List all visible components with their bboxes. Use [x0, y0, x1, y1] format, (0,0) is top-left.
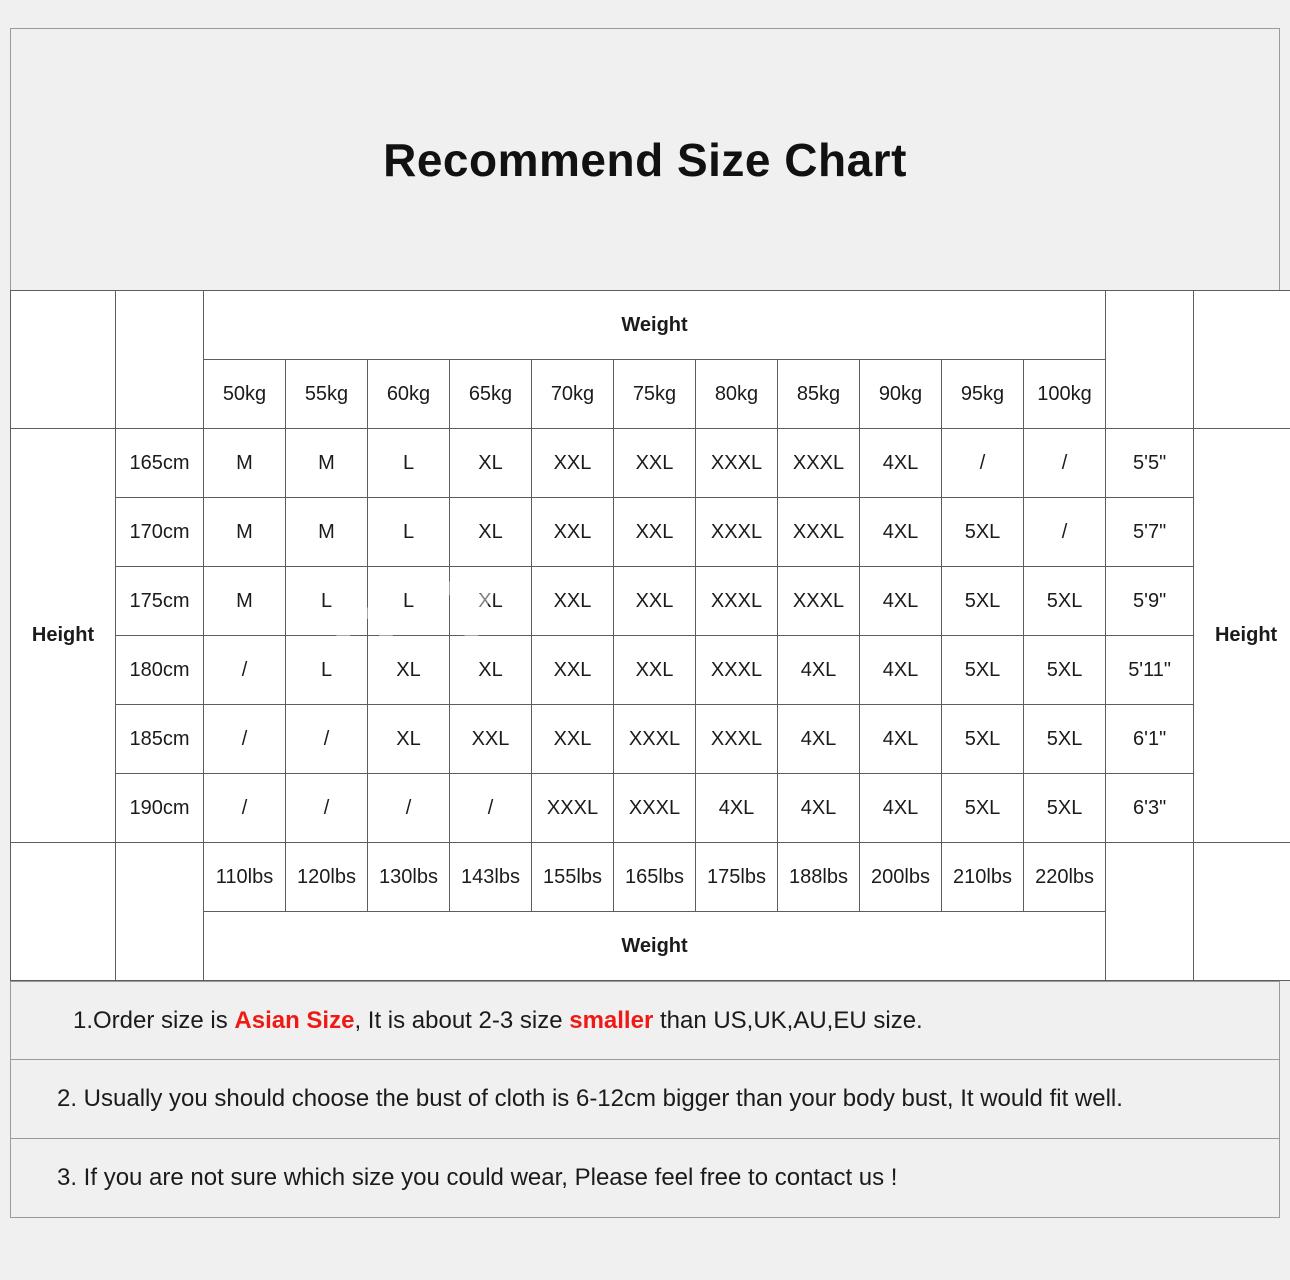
size-cell-180cm-65kg[interactable]: XL [450, 636, 532, 705]
table-row-lbs-units: 110lbs120lbs130lbs143lbs155lbs165lbs175l… [11, 843, 1290, 912]
note-1: 1.Order size is Asian Size, It is about … [10, 981, 1280, 1060]
table-row: 190cm////XXXLXXXL4XL4XL4XL5XL5XL6'3" [11, 774, 1290, 843]
note-3-text: 3. If you are not sure which size you co… [57, 1164, 897, 1192]
size-cell-185cm-100kg[interactable]: 5XL [1024, 705, 1106, 774]
weight-lbs-165lbs: 165lbs [614, 843, 696, 912]
size-cell-190cm-50kg[interactable]: / [204, 774, 286, 843]
size-cell-185cm-80kg[interactable]: XXXL [696, 705, 778, 774]
table-row: Height165cmMMLXLXXLXXLXXXLXXXL4XL//5'5"H… [11, 429, 1290, 498]
size-cell-170cm-80kg[interactable]: XXXL [696, 498, 778, 567]
height-cm-185cm: 185cm [116, 705, 204, 774]
size-cell-165cm-65kg[interactable]: XL [450, 429, 532, 498]
size-cell-165cm-95kg[interactable]: / [942, 429, 1024, 498]
weight-lbs-130lbs: 130lbs [368, 843, 450, 912]
size-cell-185cm-60kg[interactable]: XL [368, 705, 450, 774]
weight-lbs-200lbs: 200lbs [860, 843, 942, 912]
size-cell-170cm-100kg[interactable]: / [1024, 498, 1106, 567]
size-cell-170cm-60kg[interactable]: L [368, 498, 450, 567]
size-cell-180cm-85kg[interactable]: 4XL [778, 636, 860, 705]
weight-lbs-120lbs: 120lbs [286, 843, 368, 912]
size-cell-190cm-70kg[interactable]: XXXL [532, 774, 614, 843]
size-cell-170cm-95kg[interactable]: 5XL [942, 498, 1024, 567]
size-cell-185cm-90kg[interactable]: 4XL [860, 705, 942, 774]
size-cell-170cm-55kg[interactable]: M [286, 498, 368, 567]
size-cell-175cm-60kg[interactable]: L [368, 567, 450, 636]
table-row: 185cm//XLXXLXXLXXXLXXXL4XL4XL5XL5XL6'1" [11, 705, 1290, 774]
size-cell-185cm-55kg[interactable]: / [286, 705, 368, 774]
size-cell-185cm-85kg[interactable]: 4XL [778, 705, 860, 774]
corner-blank-bottomright [1106, 843, 1194, 981]
weight-kg-90kg: 90kg [860, 360, 942, 429]
weight-kg-65kg: 65kg [450, 360, 532, 429]
height-ft-5'11": 5'11" [1106, 636, 1194, 705]
table-row: 180cm/LXLXLXXLXXLXXXL4XL4XL5XL5XL5'11" [11, 636, 1290, 705]
corner-blank-bottomleft2 [116, 843, 204, 981]
height-ft-5'5": 5'5" [1106, 429, 1194, 498]
weight-kg-55kg: 55kg [286, 360, 368, 429]
page-title: Recommend Size Chart [383, 133, 907, 187]
weight-kg-60kg: 60kg [368, 360, 450, 429]
size-cell-185cm-70kg[interactable]: XXL [532, 705, 614, 774]
height-cm-190cm: 190cm [116, 774, 204, 843]
weight-lbs-188lbs: 188lbs [778, 843, 860, 912]
size-cell-170cm-70kg[interactable]: XXL [532, 498, 614, 567]
height-ft-5'9": 5'9" [1106, 567, 1194, 636]
size-cell-180cm-80kg[interactable]: XXXL [696, 636, 778, 705]
size-cell-165cm-70kg[interactable]: XXL [532, 429, 614, 498]
weight-header-top: Weight [204, 291, 1106, 360]
weight-lbs-110lbs: 110lbs [204, 843, 286, 912]
weight-lbs-143lbs: 143lbs [450, 843, 532, 912]
size-cell-185cm-50kg[interactable]: / [204, 705, 286, 774]
weight-kg-95kg: 95kg [942, 360, 1024, 429]
size-cell-170cm-85kg[interactable]: XXXL [778, 498, 860, 567]
corner-blank-topright2 [1194, 291, 1290, 429]
size-cell-175cm-50kg[interactable]: M [204, 567, 286, 636]
weight-lbs-155lbs: 155lbs [532, 843, 614, 912]
size-cell-175cm-55kg[interactable]: L [286, 567, 368, 636]
size-cell-180cm-75kg[interactable]: XXL [614, 636, 696, 705]
height-cm-165cm: 165cm [116, 429, 204, 498]
corner-blank-bottomleft [11, 843, 116, 981]
size-cell-190cm-80kg[interactable]: 4XL [696, 774, 778, 843]
size-cell-165cm-90kg[interactable]: 4XL [860, 429, 942, 498]
size-cell-170cm-75kg[interactable]: XXL [614, 498, 696, 567]
weight-lbs-210lbs: 210lbs [942, 843, 1024, 912]
height-label-right: Height [1194, 429, 1290, 843]
note-2-text: 2. Usually you should choose the bust of… [57, 1085, 1123, 1113]
size-cell-175cm-90kg[interactable]: 4XL [860, 567, 942, 636]
height-label-left: Height [11, 429, 116, 843]
weight-lbs-175lbs: 175lbs [696, 843, 778, 912]
size-cell-165cm-100kg[interactable]: / [1024, 429, 1106, 498]
weight-kg-100kg: 100kg [1024, 360, 1106, 429]
weight-lbs-220lbs: 220lbs [1024, 843, 1106, 912]
size-cell-180cm-95kg[interactable]: 5XL [942, 636, 1024, 705]
size-cell-165cm-85kg[interactable]: XXXL [778, 429, 860, 498]
title-band: Recommend Size Chart [10, 28, 1280, 290]
size-cell-170cm-50kg[interactable]: M [204, 498, 286, 567]
size-cell-180cm-70kg[interactable]: XXL [532, 636, 614, 705]
size-cell-175cm-95kg[interactable]: 5XL [942, 567, 1024, 636]
size-cell-180cm-50kg[interactable]: / [204, 636, 286, 705]
table-row: 170cmMMLXLXXLXXLXXXLXXXL4XL5XL/5'7" [11, 498, 1290, 567]
notes-section: 1.Order size is Asian Size, It is about … [10, 981, 1280, 1218]
height-ft-6'3": 6'3" [1106, 774, 1194, 843]
weight-kg-50kg: 50kg [204, 360, 286, 429]
height-cm-170cm: 170cm [116, 498, 204, 567]
size-cell-190cm-60kg[interactable]: / [368, 774, 450, 843]
height-cm-180cm: 180cm [116, 636, 204, 705]
size-cell-190cm-75kg[interactable]: XXXL [614, 774, 696, 843]
size-cell-190cm-95kg[interactable]: 5XL [942, 774, 1024, 843]
size-cell-175cm-85kg[interactable]: XXXL [778, 567, 860, 636]
size-cell-190cm-65kg[interactable]: / [450, 774, 532, 843]
size-cell-175cm-100kg[interactable]: 5XL [1024, 567, 1106, 636]
size-cell-165cm-55kg[interactable]: M [286, 429, 368, 498]
table-row: 175cmMLLXLXXLXXLXXXLXXXL4XL5XL5XL5'9" [11, 567, 1290, 636]
weight-kg-75kg: 75kg [614, 360, 696, 429]
size-cell-165cm-75kg[interactable]: XXL [614, 429, 696, 498]
size-cell-180cm-90kg[interactable]: 4XL [860, 636, 942, 705]
note-2: 2. Usually you should choose the bust of… [10, 1060, 1280, 1139]
size-cell-185cm-95kg[interactable]: 5XL [942, 705, 1024, 774]
size-cell-170cm-65kg[interactable]: XL [450, 498, 532, 567]
size-cell-190cm-100kg[interactable]: 5XL [1024, 774, 1106, 843]
weight-kg-70kg: 70kg [532, 360, 614, 429]
corner-blank-topleft2 [116, 291, 204, 429]
size-cell-165cm-60kg[interactable]: L [368, 429, 450, 498]
size-chart-page: Recommend Size Chart HY Weight50kg55kg60… [0, 0, 1290, 1280]
height-cm-175cm: 175cm [116, 567, 204, 636]
size-cell-175cm-70kg[interactable]: XXL [532, 567, 614, 636]
weight-kg-85kg: 85kg [778, 360, 860, 429]
note-3: 3. If you are not sure which size you co… [10, 1139, 1280, 1218]
size-cell-165cm-80kg[interactable]: XXXL [696, 429, 778, 498]
size-cell-170cm-90kg[interactable]: 4XL [860, 498, 942, 567]
table-row-weight-header: Weight [11, 291, 1290, 360]
weight-header-bottom: Weight [204, 912, 1106, 981]
height-ft-5'7": 5'7" [1106, 498, 1194, 567]
corner-blank-bottomright2 [1194, 843, 1290, 981]
size-cell-175cm-65kg[interactable]: XL [450, 567, 532, 636]
height-ft-6'1": 6'1" [1106, 705, 1194, 774]
corner-blank-topright [1106, 291, 1194, 429]
size-cell-190cm-55kg[interactable]: / [286, 774, 368, 843]
weight-kg-80kg: 80kg [696, 360, 778, 429]
size-cell-190cm-90kg[interactable]: 4XL [860, 774, 942, 843]
size-cell-190cm-85kg[interactable]: 4XL [778, 774, 860, 843]
size-cell-165cm-50kg[interactable]: M [204, 429, 286, 498]
size-cell-185cm-65kg[interactable]: XXL [450, 705, 532, 774]
size-cell-180cm-100kg[interactable]: 5XL [1024, 636, 1106, 705]
size-matrix-table: Weight50kg55kg60kg65kg70kg75kg80kg85kg90… [10, 290, 1290, 981]
size-cell-175cm-80kg[interactable]: XXXL [696, 567, 778, 636]
size-cell-185cm-75kg[interactable]: XXXL [614, 705, 696, 774]
size-cell-180cm-55kg[interactable]: L [286, 636, 368, 705]
corner-blank-topleft [11, 291, 116, 429]
note-1-text: 1.Order size is Asian Size, It is about … [73, 1007, 923, 1035]
size-cell-180cm-60kg[interactable]: XL [368, 636, 450, 705]
size-cell-175cm-75kg[interactable]: XXL [614, 567, 696, 636]
